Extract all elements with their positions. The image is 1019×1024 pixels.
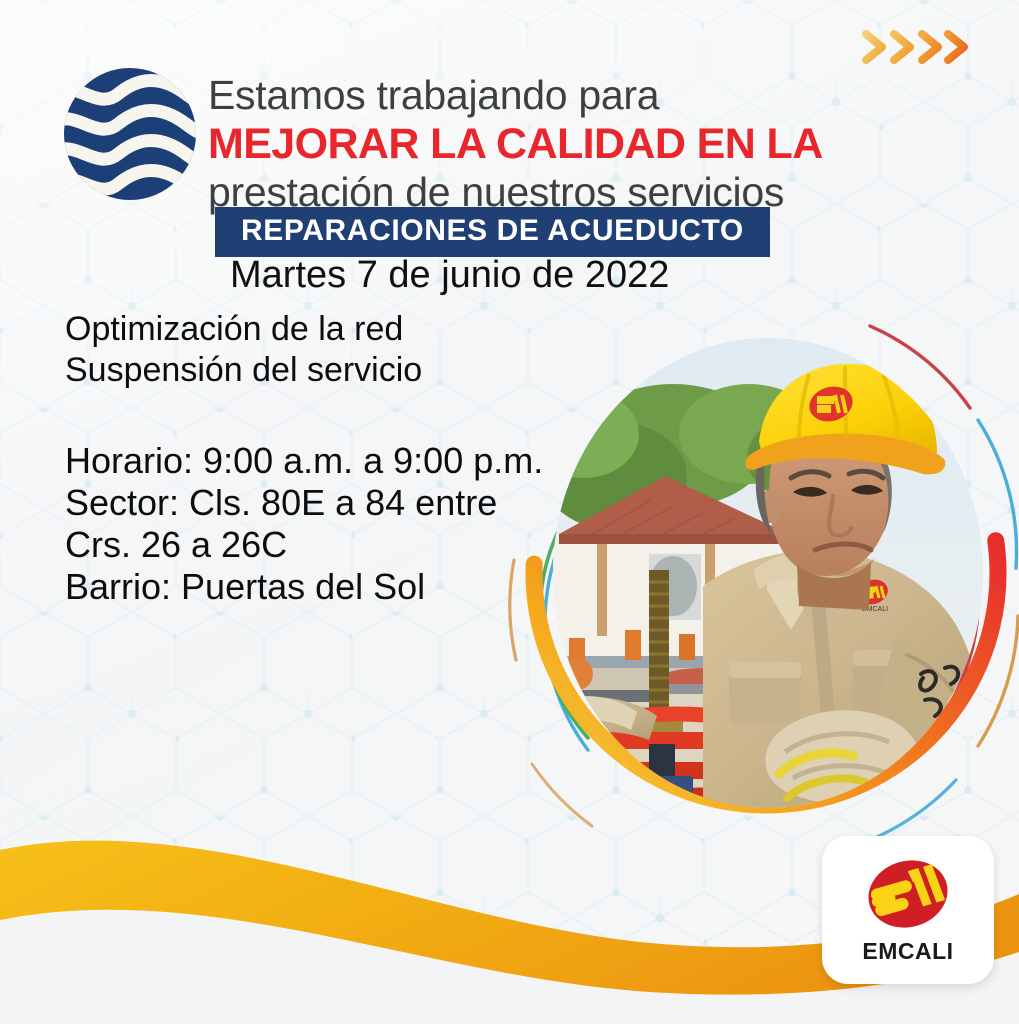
chevron-arrows-icon	[862, 26, 978, 68]
emcali-wordmark: EMCALI	[862, 938, 953, 965]
date-text: Martes 7 de junio de 2022	[230, 254, 669, 297]
subject-line-2: Suspensión del servicio	[65, 350, 422, 391]
category-banner: REPARACIONES DE ACUEDUCTO	[215, 207, 770, 257]
headline-line-1: Estamos trabajando para	[208, 72, 908, 119]
poster-canvas: Estamos trabajando para MEJORAR LA CALID…	[0, 0, 1019, 1024]
detail-sector: Sector: Cls. 80E a 84 entre	[65, 482, 543, 524]
detail-horario: Horario: 9:00 a.m. a 9:00 p.m.	[65, 440, 543, 482]
subject-block: Optimización de la red Suspensión del se…	[65, 309, 422, 391]
worker-photo: EMCALI	[553, 338, 983, 808]
emcali-logo-card: EMCALI	[822, 836, 994, 984]
headline-line-2: MEJORAR LA CALIDAD EN LA	[208, 119, 908, 169]
detail-barrio: Barrio: Puertas del Sol	[65, 566, 543, 608]
headline-block: Estamos trabajando para MEJORAR LA CALID…	[208, 72, 908, 216]
subject-line-1: Optimización de la red	[65, 309, 422, 350]
details-block: Horario: 9:00 a.m. a 9:00 p.m. Sector: C…	[65, 440, 543, 608]
worker-photo-illustration: EMCALI	[553, 338, 983, 808]
emcali-em-icon	[854, 856, 962, 940]
water-waves-logo	[62, 66, 198, 202]
detail-carreras: Crs. 26 a 26C	[65, 524, 543, 566]
